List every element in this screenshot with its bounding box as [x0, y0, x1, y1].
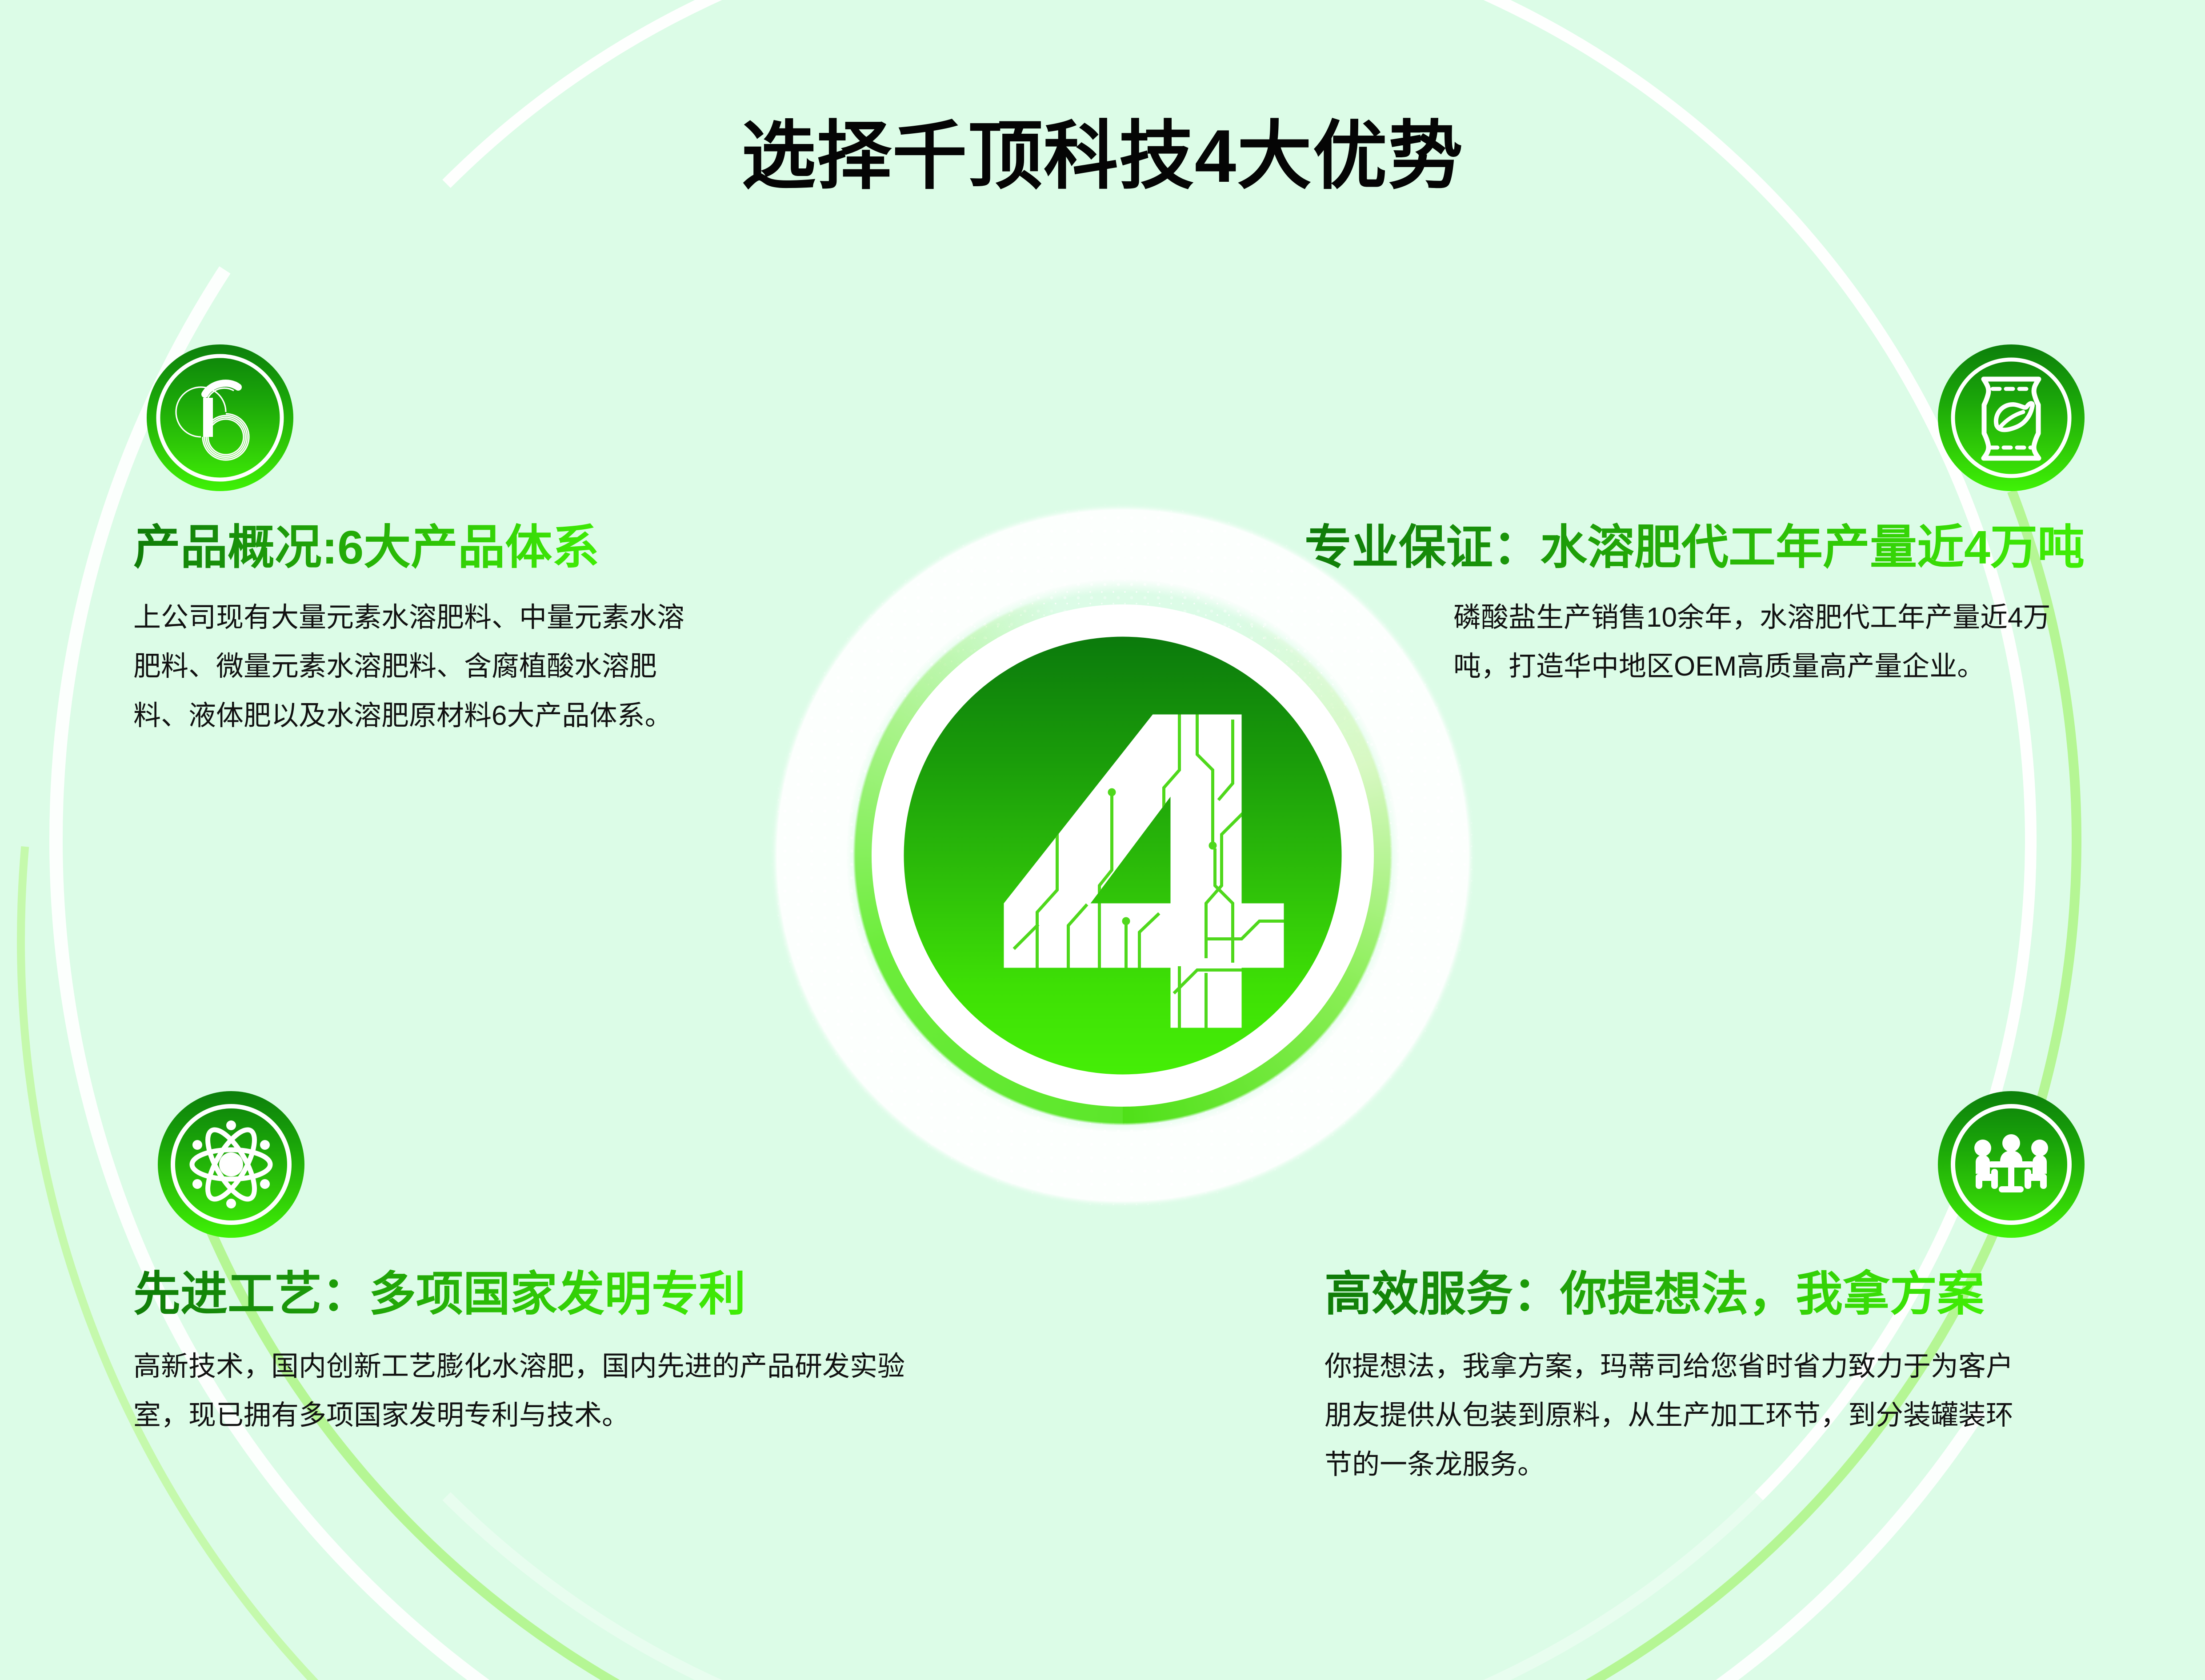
advantage-heading: 产品概况:6大产品体系 [133, 522, 599, 573]
circuit-four-icon [904, 637, 1342, 1075]
page-title: 选择千顶科技4大优势 [0, 96, 2205, 204]
atom-icon [158, 1091, 304, 1238]
number-six-spiral-icon [147, 344, 293, 491]
infographic-canvas: 选择千顶科技4大优势 [0, 0, 2205, 1680]
advantage-heading: 专业保证：水溶肥代工年产量近4万吨 [1305, 522, 2085, 573]
meeting-team-icon [1938, 1091, 2085, 1238]
advantage-body: 高新技术，国内创新工艺膨化水溶肥，国内先进的产品研发实验室，现已拥有多项国家发明… [133, 1342, 907, 1440]
advantage-body: 磷酸盐生产销售10余年，水溶肥代工年产量近4万吨，打造华中地区OEM高质量高产量… [1453, 593, 2085, 692]
center-number-circle [904, 637, 1342, 1075]
fertilizer-bag-icon [1938, 344, 2085, 491]
center-hub [598, 331, 1647, 1380]
advantage-body: 上公司现有大量元素水溶肥料、中量元素水溶肥料、微量元素水溶肥料、含腐植酸水溶肥料… [133, 593, 707, 740]
advantage-heading: 先进工艺：多项国家发明专利 [133, 1269, 746, 1320]
advantage-body: 你提想法，我拿方案，玛蒂司给您省时省力致力于为客户朋友提供从包装到原料，从生产加… [1325, 1342, 2027, 1489]
advantage-heading: 高效服务：你提想法，我拿方案 [1325, 1269, 1984, 1320]
